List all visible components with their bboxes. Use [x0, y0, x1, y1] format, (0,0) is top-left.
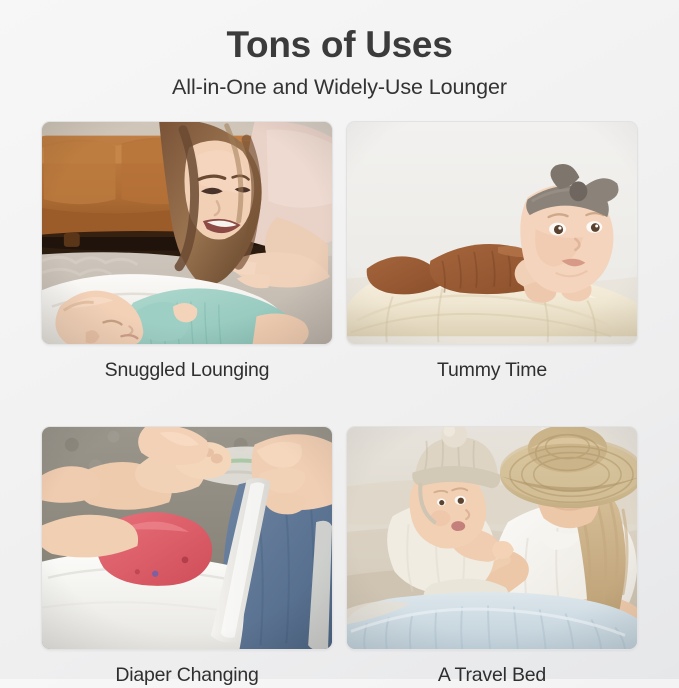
infographic-page: Tons of Uses All-in-One and Widely-Use L… — [0, 0, 679, 679]
baby-diaper-changing-on-lounger-photo — [41, 426, 333, 650]
use-case-card-tummy-time: Tummy Time — [346, 121, 638, 382]
use-case-card-a-travel-bed: A Travel Bed — [346, 426, 638, 687]
use-case-caption: Snuggled Lounging — [41, 345, 333, 382]
page-title: Tons of Uses — [0, 0, 679, 67]
use-case-caption: A Travel Bed — [346, 650, 638, 687]
baby-tummy-time-on-lounger-photo — [346, 121, 638, 345]
use-case-card-diaper-changing: Diaper Changing — [41, 426, 333, 687]
mother-and-baby-at-beach-travel-bed-photo — [346, 426, 638, 650]
use-case-caption: Diaper Changing — [41, 650, 333, 687]
use-case-card-snuggled-lounging: Snuggled Lounging — [41, 121, 333, 382]
mother-and-baby-on-lounger-photo — [41, 121, 333, 345]
use-case-caption: Tummy Time — [346, 345, 638, 382]
page-header: Tons of Uses All-in-One and Widely-Use L… — [0, 0, 679, 100]
page-subtitle: All-in-One and Widely-Use Lounger — [0, 67, 679, 101]
use-case-grid: Snuggled Lounging — [41, 121, 638, 688]
